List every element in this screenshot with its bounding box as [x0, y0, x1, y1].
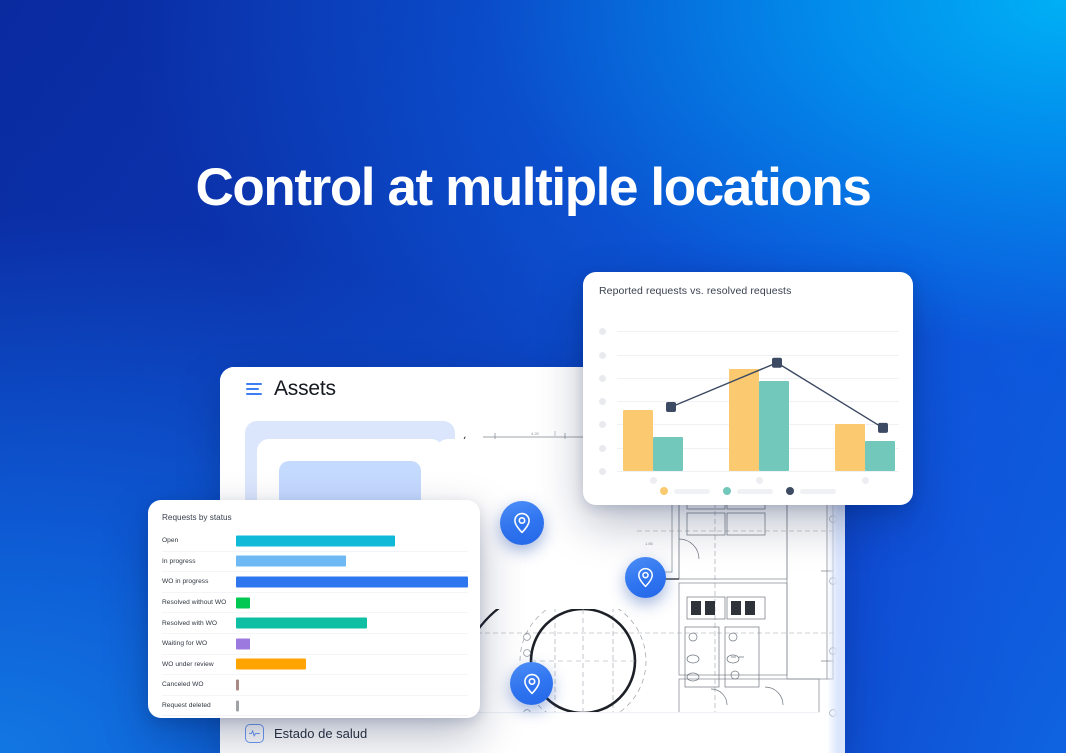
- status-bar: [236, 556, 346, 567]
- chart-x-tick-dot: [862, 477, 869, 484]
- status-row: Request deleted: [162, 696, 468, 717]
- map-pin-icon: [513, 512, 531, 534]
- status-bar: [236, 679, 239, 690]
- chart-legend-item: [723, 487, 773, 495]
- svg-text:4.20: 4.20: [531, 431, 540, 436]
- chart-bar: [623, 410, 653, 471]
- status-row-label: WO under review: [162, 661, 236, 668]
- chart-bar: [865, 441, 895, 471]
- status-row-label: Resolved without WO: [162, 599, 236, 606]
- chart-plot-area: [599, 308, 899, 471]
- chart-bar: [835, 424, 865, 471]
- status-chart-title: Requests by status: [162, 513, 232, 522]
- health-status-icon: [245, 724, 264, 743]
- status-row: Open: [162, 531, 468, 552]
- status-row-label: In progress: [162, 558, 236, 565]
- status-row-label: Resolved with WO: [162, 620, 236, 627]
- health-status-row[interactable]: Estado de salud: [245, 712, 820, 753]
- status-row-track: [236, 593, 468, 613]
- status-row-track: [236, 552, 468, 572]
- chart-title: Reported requests vs. resolved requests: [599, 285, 791, 297]
- chart-bar: [759, 381, 789, 471]
- status-bar: [236, 576, 468, 587]
- status-row: WO under review: [162, 655, 468, 676]
- chart-bar: [653, 437, 683, 471]
- chart-legend-dot: [786, 487, 794, 495]
- status-row-track: [236, 634, 468, 654]
- location-pin-1[interactable]: [500, 501, 544, 545]
- status-row-label: Canceled WO: [162, 681, 236, 688]
- status-row-track: [236, 531, 468, 551]
- requests-by-status-card: Requests by status OpenIn progressWO in …: [148, 500, 480, 718]
- status-bar: [236, 700, 239, 711]
- assets-title: Assets: [274, 377, 336, 401]
- chart-legend-label-placeholder: [737, 489, 773, 494]
- chart-y-tick-dot: [599, 375, 606, 382]
- status-bar: [236, 597, 250, 608]
- status-row: Canceled WO: [162, 675, 468, 696]
- chart-x-tick-dot: [756, 477, 763, 484]
- chart-legend-dot: [723, 487, 731, 495]
- page-root: Control at multiple locations Assets: [0, 0, 1066, 753]
- chart-legend-label-placeholder: [674, 489, 710, 494]
- status-row-track: [236, 613, 468, 633]
- reported-vs-resolved-card: Reported requests vs. resolved requests: [583, 272, 913, 505]
- status-bar: [236, 618, 367, 629]
- status-row: WO in progress: [162, 572, 468, 593]
- chart-y-tick-dot: [599, 398, 606, 405]
- map-pin-icon: [637, 567, 654, 588]
- chart-bar-group: [729, 308, 789, 471]
- status-row-track: [236, 655, 468, 675]
- hamburger-icon[interactable]: [246, 383, 262, 395]
- status-row-track: [236, 675, 468, 695]
- status-row: Resolved without WO: [162, 593, 468, 614]
- chart-y-tick-dot: [599, 421, 606, 428]
- chart-bar: [729, 369, 759, 471]
- status-row-label: WO in progress: [162, 578, 236, 585]
- chart-bar-group: [835, 308, 895, 471]
- status-row-track: [236, 572, 468, 592]
- chart-y-tick-dot: [599, 445, 606, 452]
- chart-y-tick-dot: [599, 468, 606, 475]
- chart-bar-group: [623, 308, 683, 471]
- status-bar: [236, 535, 395, 546]
- health-status-label: Estado de salud: [274, 726, 367, 741]
- page-title: Control at multiple locations: [0, 158, 1066, 217]
- chart-y-tick-dot: [599, 352, 606, 359]
- chart-x-tick-dot: [650, 477, 657, 484]
- chart-legend-item: [660, 487, 710, 495]
- chart-legend: [583, 487, 913, 495]
- svg-text:1.85: 1.85: [645, 541, 654, 546]
- status-bar: [236, 659, 306, 670]
- status-row: In progress: [162, 552, 468, 573]
- status-row: Resolved with WO: [162, 613, 468, 634]
- status-row-label: Waiting for WO: [162, 640, 236, 647]
- status-rows: OpenIn progressWO in progressResolved wi…: [162, 531, 468, 712]
- chart-y-tick-dot: [599, 328, 606, 335]
- chart-gridline: [617, 471, 899, 472]
- status-row-label: Request deleted: [162, 702, 236, 709]
- location-pin-3[interactable]: [510, 662, 553, 705]
- chart-legend-label-placeholder: [800, 489, 836, 494]
- map-pin-icon: [523, 673, 541, 695]
- status-bar: [236, 638, 250, 649]
- status-row-label: Open: [162, 537, 236, 544]
- location-pin-2[interactable]: [625, 557, 666, 598]
- status-row-track: [236, 696, 468, 716]
- chart-bars: [623, 308, 895, 471]
- status-row: Waiting for WO: [162, 634, 468, 655]
- chart-legend-dot: [660, 487, 668, 495]
- chart-legend-item: [786, 487, 836, 495]
